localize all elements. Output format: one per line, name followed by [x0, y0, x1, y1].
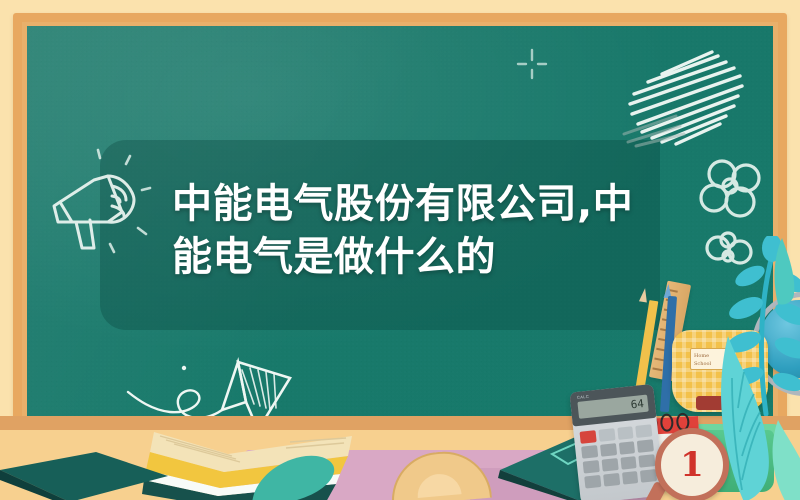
- calculator-top-shell: CALC 64: [569, 384, 656, 427]
- calculator-key: [598, 428, 615, 442]
- cover-image: 中能电气股份有限公司,中能电气是做什么的 Home: [0, 0, 800, 500]
- calculator-key: [637, 439, 654, 453]
- book-dark-left: [0, 446, 170, 500]
- sprig-mint-right: [756, 236, 800, 306]
- calculator-key: [581, 445, 598, 459]
- calculator-key: [620, 456, 637, 470]
- calculator-key: [622, 471, 639, 485]
- calculator-key: [618, 441, 635, 455]
- calculator-keypad: [580, 424, 658, 488]
- calculator-key: [617, 426, 634, 440]
- frond-mint-bottom-right: [748, 418, 800, 500]
- calculator-key: [583, 460, 600, 474]
- leaf-teal-on-cloth: [248, 452, 338, 500]
- calculator: CALC 64: [569, 384, 664, 500]
- calculator-key: [635, 424, 652, 438]
- calculator-key: [603, 473, 620, 487]
- calculator-key: [584, 475, 601, 489]
- calculator-key: [580, 430, 597, 444]
- calculator-brand: CALC: [577, 394, 590, 400]
- calculator-key: [639, 454, 656, 468]
- page-title: 中能电气股份有限公司,中能电气是做什么的: [172, 178, 642, 284]
- calculator-key: [600, 443, 617, 457]
- calculator-key: [601, 458, 618, 472]
